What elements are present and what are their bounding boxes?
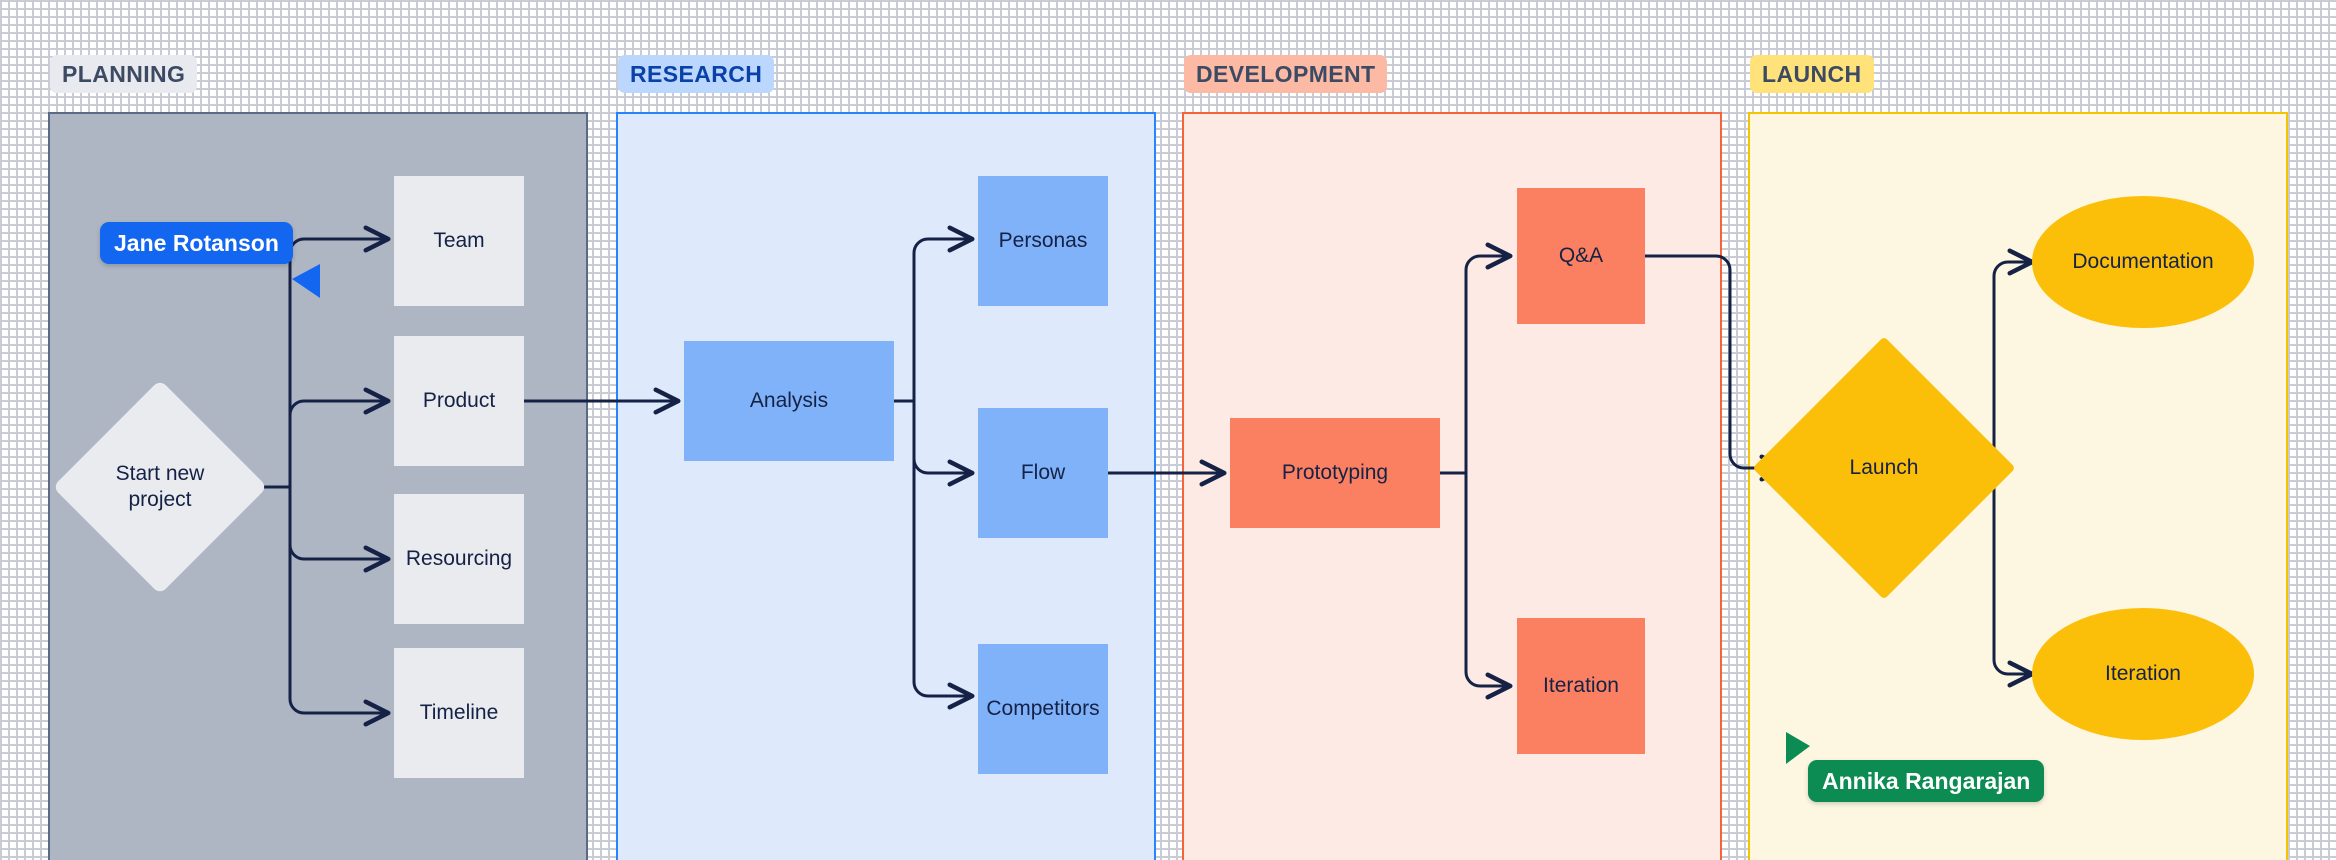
- node-label: Timeline: [420, 700, 499, 726]
- whiteboard-canvas[interactable]: PLANNING RESEARCH DEVELOPMENT LAUNCH: [0, 0, 2336, 860]
- node-label: Start new project: [84, 461, 236, 514]
- node-label: Documentation: [2072, 249, 2213, 275]
- grid-line-vertical: [1170, 0, 1171, 860]
- node-analysis[interactable]: Analysis: [684, 341, 894, 461]
- node-prototyping[interactable]: Prototyping: [1230, 418, 1440, 528]
- node-label: Resourcing: [406, 546, 512, 572]
- node-start-new-project[interactable]: Start new project: [84, 411, 236, 563]
- node-label: Iteration: [1543, 673, 1619, 699]
- node-label: Q&A: [1559, 243, 1603, 269]
- lane-title-research[interactable]: RESEARCH: [618, 55, 774, 93]
- lane-title-launch[interactable]: LAUNCH: [1750, 55, 1874, 93]
- node-product[interactable]: Product: [394, 336, 524, 466]
- node-flow[interactable]: Flow: [978, 408, 1108, 538]
- cursor-pointer-annika-icon: [1782, 730, 1814, 770]
- node-competitors[interactable]: Competitors: [978, 644, 1108, 774]
- node-label: Team: [433, 228, 484, 254]
- node-launch[interactable]: Launch: [1791, 375, 1977, 561]
- node-label: Personas: [999, 228, 1088, 254]
- node-label: Prototyping: [1282, 460, 1388, 486]
- grid-line-horizontal: [0, 53, 2336, 54]
- node-personas[interactable]: Personas: [978, 176, 1108, 306]
- node-launch-iteration[interactable]: Iteration: [2032, 608, 2254, 740]
- node-dev-iteration[interactable]: Iteration: [1517, 618, 1645, 754]
- node-documentation[interactable]: Documentation: [2032, 196, 2254, 328]
- node-label: Iteration: [2105, 661, 2181, 687]
- lane-title-planning[interactable]: PLANNING: [50, 55, 197, 93]
- node-label: Flow: [1021, 460, 1065, 486]
- node-label: Competitors: [986, 696, 1099, 722]
- node-team[interactable]: Team: [394, 176, 524, 306]
- node-qa[interactable]: Q&A: [1517, 188, 1645, 324]
- cursor-label-jane[interactable]: Jane Rotanson: [100, 222, 293, 264]
- node-timeline[interactable]: Timeline: [394, 648, 524, 778]
- node-label: Product: [423, 388, 495, 414]
- cursor-label-annika[interactable]: Annika Rangarajan: [1808, 760, 2044, 802]
- node-label: Launch: [1850, 455, 1919, 481]
- lane-title-development[interactable]: DEVELOPMENT: [1184, 55, 1387, 93]
- node-label: Analysis: [750, 388, 828, 414]
- cursor-name: Annika Rangarajan: [1822, 768, 2030, 795]
- cursor-name: Jane Rotanson: [114, 230, 279, 257]
- cursor-pointer-jane-icon: [288, 262, 324, 304]
- node-resourcing[interactable]: Resourcing: [394, 494, 524, 624]
